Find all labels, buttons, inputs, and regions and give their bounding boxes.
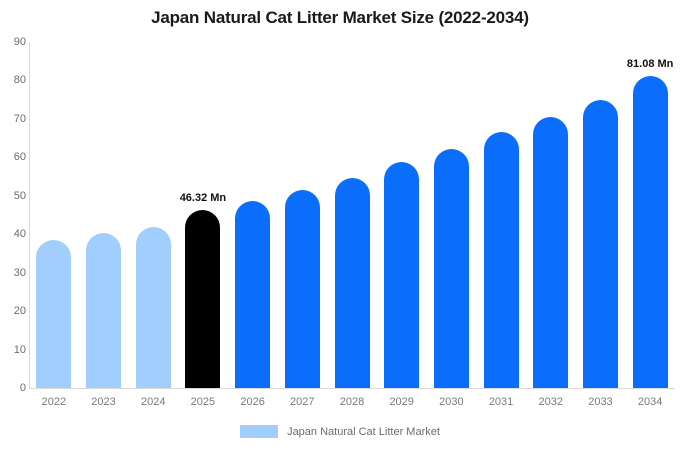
x-axis-tick-2034: 2034 [625, 396, 675, 408]
chart-legend: Japan Natural Cat Litter Market [0, 425, 680, 438]
bar-2028[interactable] [335, 178, 370, 388]
bar-slot-2026 [235, 42, 270, 388]
bar-value-label-2025: 46.32 Mn [158, 192, 248, 204]
y-axis-tick-40: 40 [2, 228, 26, 240]
chart-container: Japan Natural Cat Litter Market Size (20… [0, 0, 680, 450]
bar-slot-2033 [583, 42, 618, 388]
chart-title: Japan Natural Cat Litter Market Size (20… [0, 8, 680, 28]
bar-2025[interactable] [185, 210, 220, 388]
bar-2031[interactable] [484, 132, 519, 388]
x-axis-tick-2027: 2027 [277, 396, 327, 408]
y-axis-tick-50: 50 [2, 190, 26, 202]
y-axis-tick-60: 60 [2, 151, 26, 163]
bar-2027[interactable] [285, 190, 320, 388]
bar-2033[interactable] [583, 100, 618, 388]
y-axis-tick-70: 70 [2, 113, 26, 125]
x-axis-line [29, 388, 675, 389]
bar-slot-2027 [285, 42, 320, 388]
bar-slot-2028 [335, 42, 370, 388]
bar-slot-2022 [36, 42, 71, 388]
bar-2029[interactable] [384, 162, 419, 388]
bar-slot-2024 [136, 42, 171, 388]
bar-slot-2034 [633, 42, 668, 388]
bar-2034[interactable] [633, 76, 668, 388]
x-axis-tick-2022: 2022 [29, 396, 79, 408]
legend-label-japan-natural-cat-litter-market: Japan Natural Cat Litter Market [287, 426, 440, 438]
x-axis-tick-2029: 2029 [377, 396, 427, 408]
bar-slot-2030 [434, 42, 469, 388]
bar-slot-2031 [484, 42, 519, 388]
y-axis-tick-80: 80 [2, 74, 26, 86]
y-axis-tick-90: 90 [2, 36, 26, 48]
x-axis-tick-2031: 2031 [476, 396, 526, 408]
y-axis-tick-0: 0 [2, 382, 26, 394]
y-axis-tick-10: 10 [2, 344, 26, 356]
x-axis-tick-2023: 2023 [79, 396, 129, 408]
legend-swatch-japan-natural-cat-litter-market [240, 425, 278, 438]
bar-2023[interactable] [86, 233, 121, 388]
bar-2026[interactable] [235, 201, 270, 388]
bar-slot-2029 [384, 42, 419, 388]
x-axis-tick-2028: 2028 [327, 396, 377, 408]
bar-slot-2032 [533, 42, 568, 388]
bar-2024[interactable] [136, 227, 171, 388]
bar-value-label-2034: 81.08 Mn [605, 58, 680, 70]
bar-slot-2023 [86, 42, 121, 388]
x-axis-tick-2033: 2033 [575, 396, 625, 408]
y-axis-tick-30: 30 [2, 267, 26, 279]
x-axis-tick-2026: 2026 [228, 396, 278, 408]
x-axis-tick-2024: 2024 [128, 396, 178, 408]
bars-layer [29, 42, 675, 388]
y-axis-tick-labels: 9080706050403020100 [0, 0, 26, 450]
bar-2030[interactable] [434, 149, 469, 389]
bar-slot-2025 [185, 42, 220, 388]
x-axis-tick-2030: 2030 [426, 396, 476, 408]
bar-2022[interactable] [36, 240, 71, 388]
x-axis-tick-2025: 2025 [178, 396, 228, 408]
y-axis-tick-20: 20 [2, 305, 26, 317]
bar-2032[interactable] [533, 117, 568, 388]
x-axis-tick-2032: 2032 [526, 396, 576, 408]
